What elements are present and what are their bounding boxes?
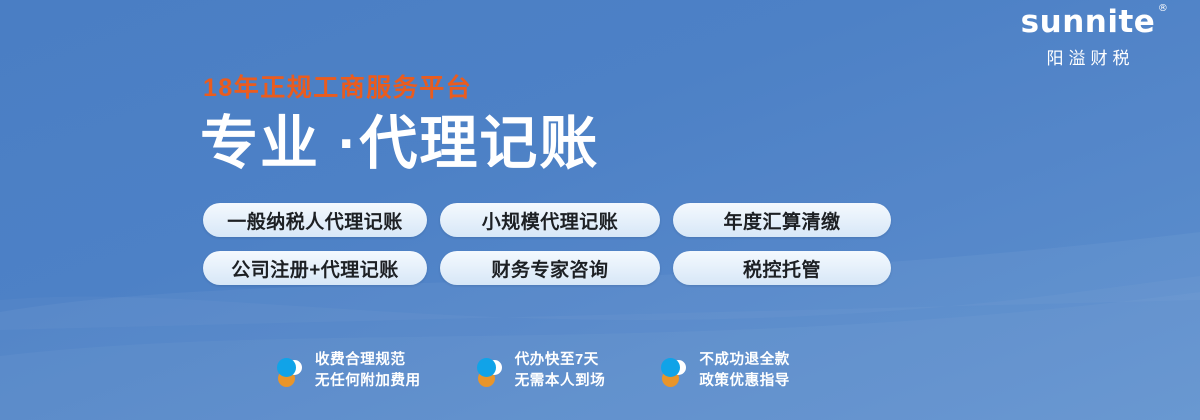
hero-headline: 专业 ·代理记账 (200, 112, 599, 176)
service-pill-tax-control-hosting[interactable]: 税控托管 (673, 251, 891, 285)
logo-chinese-name: 阳溢财税 (998, 44, 1178, 69)
service-pill-grid: 一般纳税人代理记账 小规模代理记账 年度汇算清缴 公司注册+代理记账 财务专家咨… (203, 203, 891, 299)
logo-wordmark: sunnite ® (1021, 6, 1156, 39)
overlapping-circles-icon (276, 355, 306, 387)
promo-banner: sunnite ® 阳溢财税 18年正规工商服务平台 专业 ·代理记账 一般纳税… (0, 0, 1200, 420)
service-pill-expert-consulting[interactable]: 财务专家咨询 (440, 251, 660, 285)
brand-logo[interactable]: sunnite ® 阳溢财税 (998, 6, 1178, 69)
service-pill-row-1: 一般纳税人代理记账 小规模代理记账 年度汇算清缴 (203, 203, 891, 237)
icon-cyan-circle (661, 358, 680, 377)
feature-line-2: 无任何附加费用 (315, 371, 421, 392)
service-pill-general-taxpayer[interactable]: 一般纳税人代理记账 (203, 203, 427, 237)
feature-item-guarantee: 不成功退全款 政策优惠指导 (660, 350, 790, 391)
service-pill-company-registration[interactable]: 公司注册+代理记账 (203, 251, 427, 285)
feature-line-2: 无需本人到场 (515, 371, 606, 392)
feature-item-speed: 代办快至7天 无需本人到场 (476, 350, 606, 391)
feature-text-speed: 代办快至7天 无需本人到场 (515, 350, 606, 391)
service-pill-small-scale[interactable]: 小规模代理记账 (440, 203, 660, 237)
service-pill-annual-settlement[interactable]: 年度汇算清缴 (673, 203, 891, 237)
overlapping-circles-icon (660, 355, 690, 387)
feature-text-guarantee: 不成功退全款 政策优惠指导 (699, 350, 790, 391)
feature-line-1: 不成功退全款 (699, 350, 790, 371)
logo-wordmark-text: sunnite (1021, 4, 1156, 40)
feature-item-pricing: 收费合理规范 无任何附加费用 (276, 350, 421, 391)
feature-strip: 收费合理规范 无任何附加费用 代办快至7天 无需本人到场 不成功退全款 (276, 350, 790, 391)
feature-line-2: 政策优惠指导 (699, 371, 790, 392)
overlapping-circles-icon (476, 355, 506, 387)
hero-kicker: 18年正规工商服务平台 (203, 76, 472, 101)
feature-line-1: 收费合理规范 (315, 350, 421, 371)
feature-text-pricing: 收费合理规范 无任何附加费用 (315, 350, 421, 391)
icon-cyan-circle (277, 358, 296, 377)
registered-trademark-icon: ® (1158, 4, 1169, 14)
icon-cyan-circle (477, 358, 496, 377)
service-pill-row-2: 公司注册+代理记账 财务专家咨询 税控托管 (203, 251, 891, 285)
feature-line-1: 代办快至7天 (515, 350, 606, 371)
